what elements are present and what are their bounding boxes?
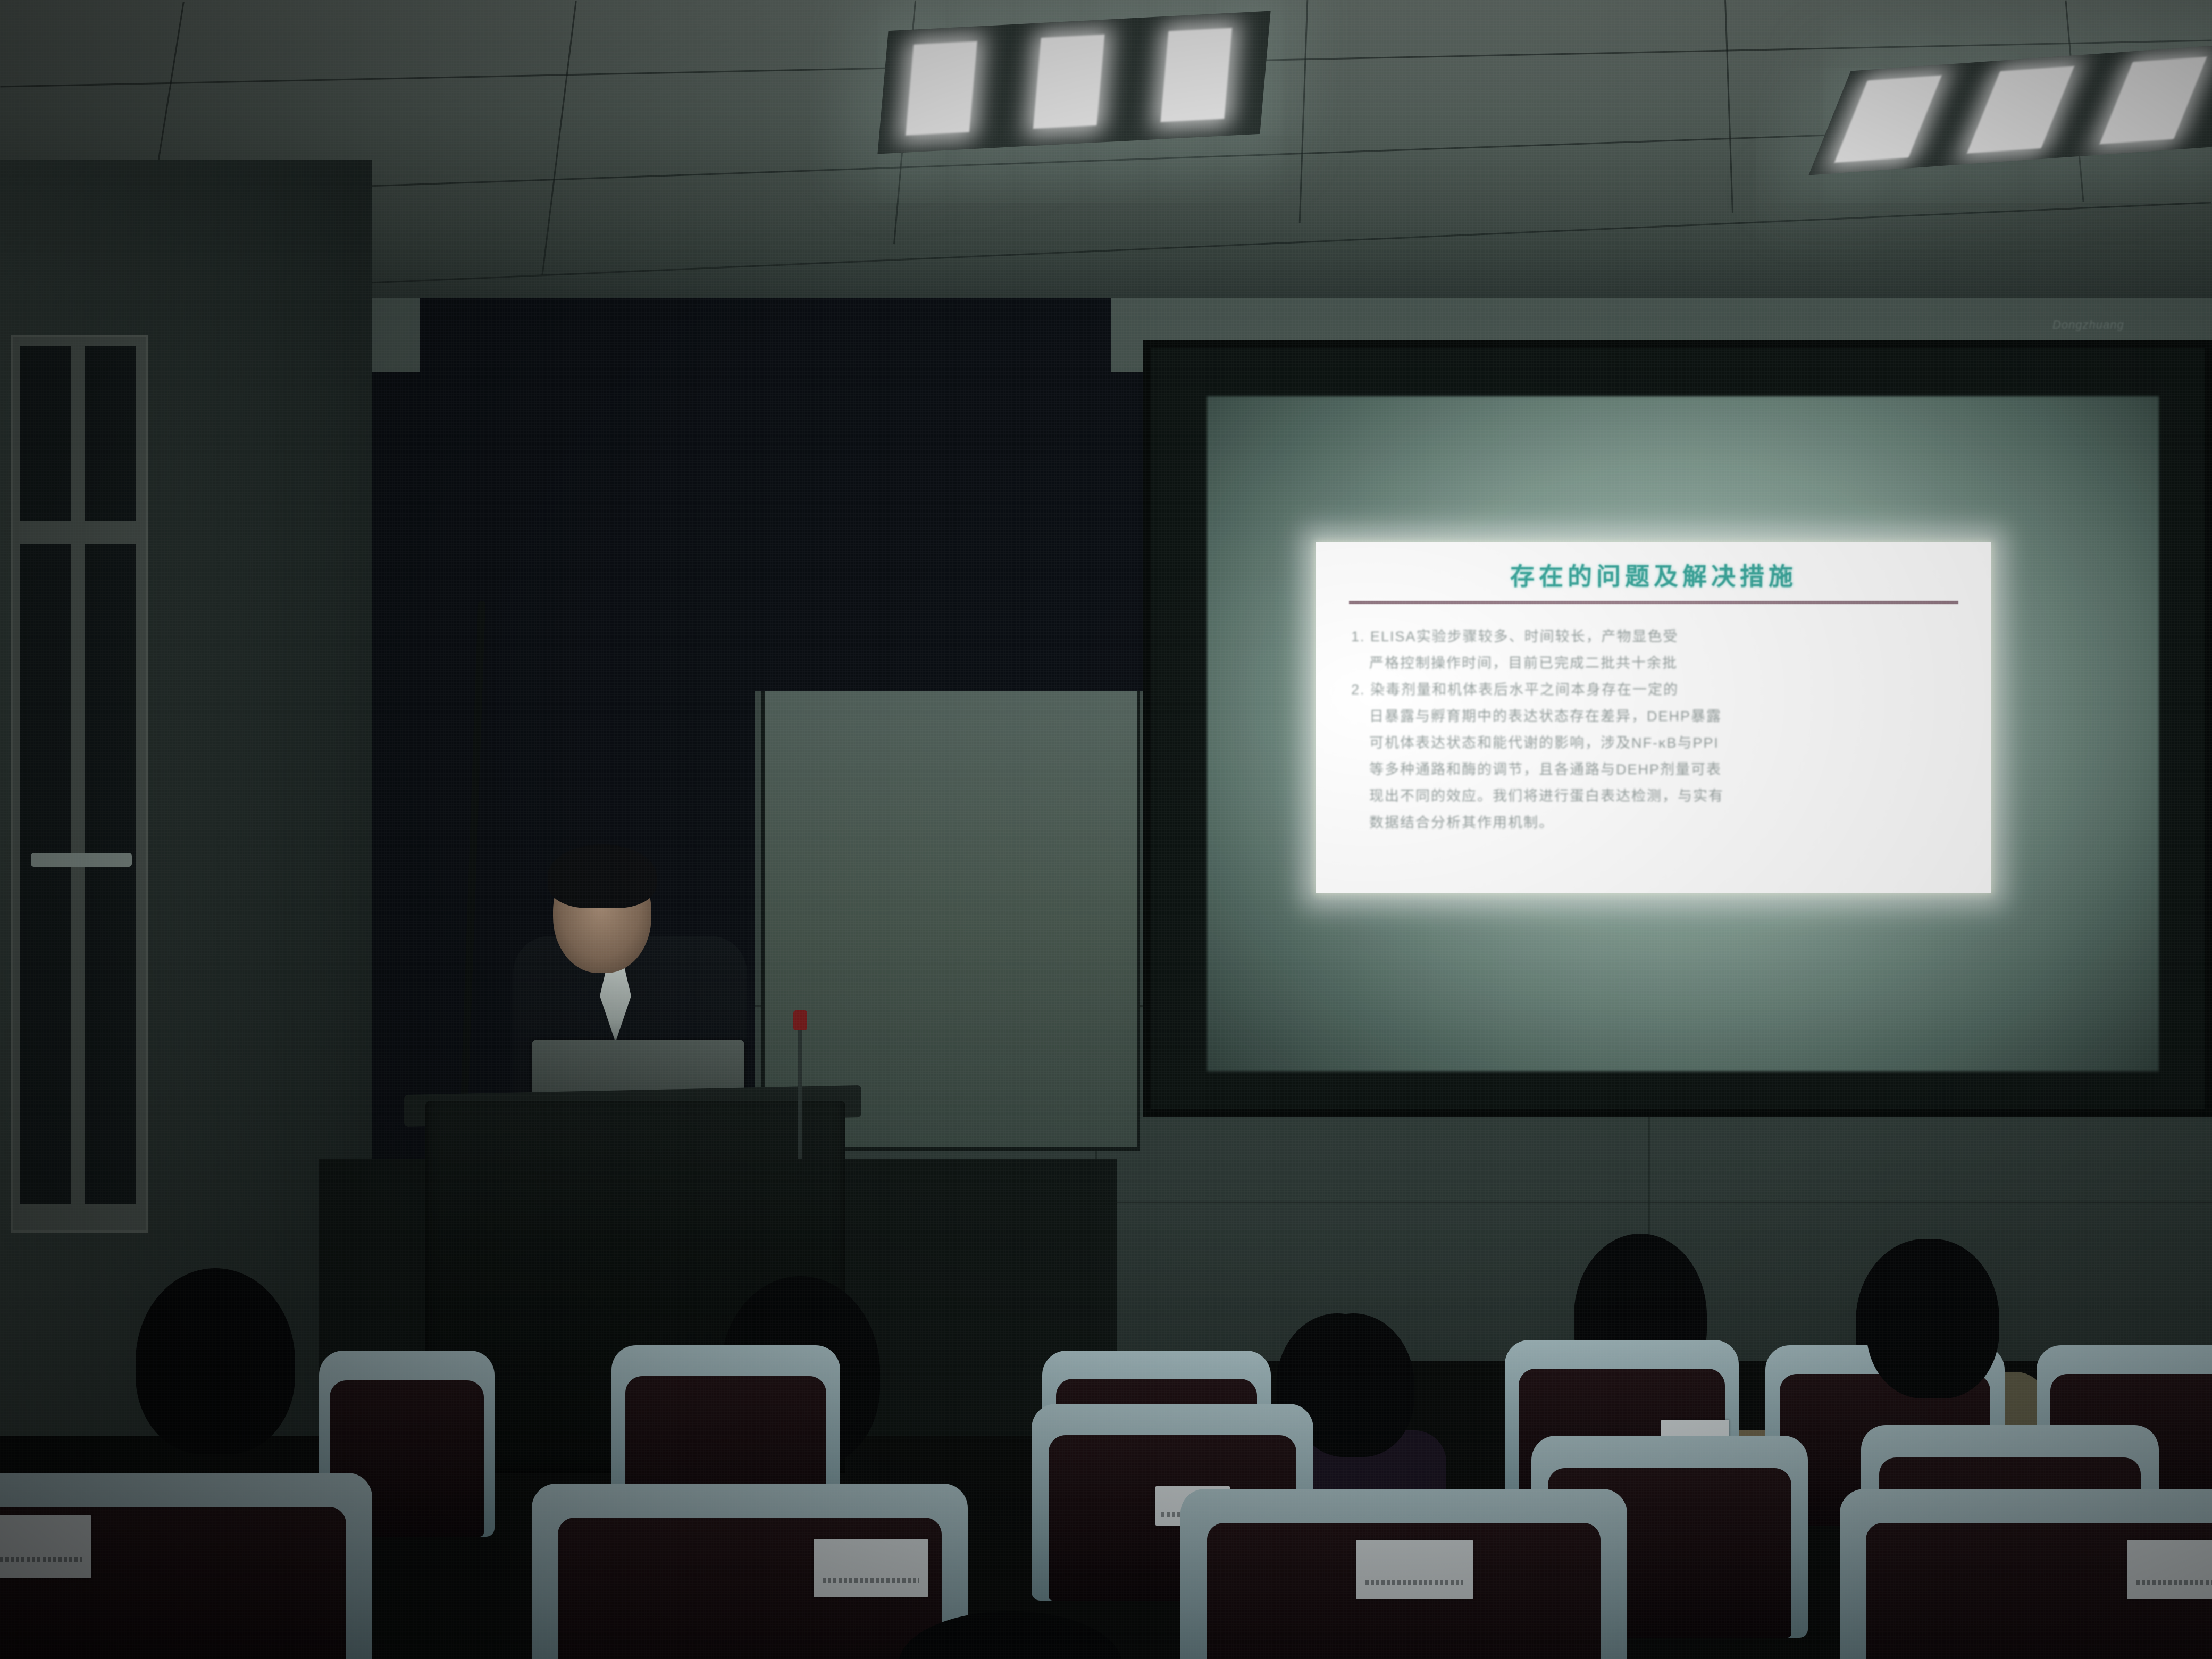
seat-label <box>1356 1540 1473 1599</box>
wall-logo-text: Dongzhuang <box>2052 318 2124 332</box>
audience-head-7 <box>1866 1239 1999 1398</box>
window-handle[interactable] <box>31 853 132 867</box>
slide-line-1: 1. ELISA实验步骤较多、时间较长，产物显色受 <box>1351 623 1967 650</box>
left-wall <box>0 160 372 1436</box>
slide-line-3: 2. 染毒剂量和机体表后水平之间本身存在一定的 <box>1351 676 1967 703</box>
seat-front-2[interactable] <box>532 1484 968 1659</box>
front-dark-panel-right <box>755 372 1149 691</box>
slide-line-7: 现出不同的效应。我们将进行蛋白表达检测，与实有 <box>1351 783 1967 809</box>
seat-front-4[interactable] <box>1840 1489 2212 1659</box>
slide-line-8: 数据结合分析其作用机制。 <box>1351 809 1967 836</box>
audience-head-1 <box>136 1268 295 1454</box>
ceiling-light-left <box>877 11 1270 154</box>
slide-line-4: 日暴露与孵育期中的表达状态存在差异，DEHP暴露 <box>1351 703 1967 730</box>
chalkboard <box>761 676 1140 1151</box>
seat-label <box>814 1539 928 1597</box>
slide-line-2: 严格控制操作时间，目前已完成二批共十余批 <box>1351 650 1967 676</box>
slide-title: 存在的问题及解决措施 <box>1316 557 1991 592</box>
ceiling-light-right <box>1808 43 2212 175</box>
seat-label <box>2127 1540 2212 1599</box>
presenter-hair <box>548 844 657 908</box>
presentation-slide: 存在的问题及解决措施 1. ELISA实验步骤较多、时间较长，产物显色受 严格控… <box>1316 542 1991 893</box>
lecture-hall-photo: Dongzhuang 存在的问题及解决措施 1. ELISA实验步骤较多、时间较… <box>0 0 2212 1659</box>
slide-title-rule <box>1349 601 1958 604</box>
slide-line-5: 可机体表达状态和能代谢的影响，涉及NF-κB与PPI <box>1351 730 1967 756</box>
seat-label <box>0 1515 91 1578</box>
slide-line-6: 等多种通路和酶的调节，且各通路与DEHP剂量可表 <box>1351 756 1967 783</box>
seat-front-3[interactable] <box>1180 1489 1627 1659</box>
seat-front-1[interactable] <box>0 1473 372 1659</box>
slide-body: 1. ELISA实验步骤较多、时间较长，产物显色受 严格控制操作时间，目前已完成… <box>1351 623 1967 836</box>
left-wall-window <box>11 335 148 1233</box>
microphone-stand <box>798 1021 802 1159</box>
microphone-icon <box>793 1010 807 1030</box>
